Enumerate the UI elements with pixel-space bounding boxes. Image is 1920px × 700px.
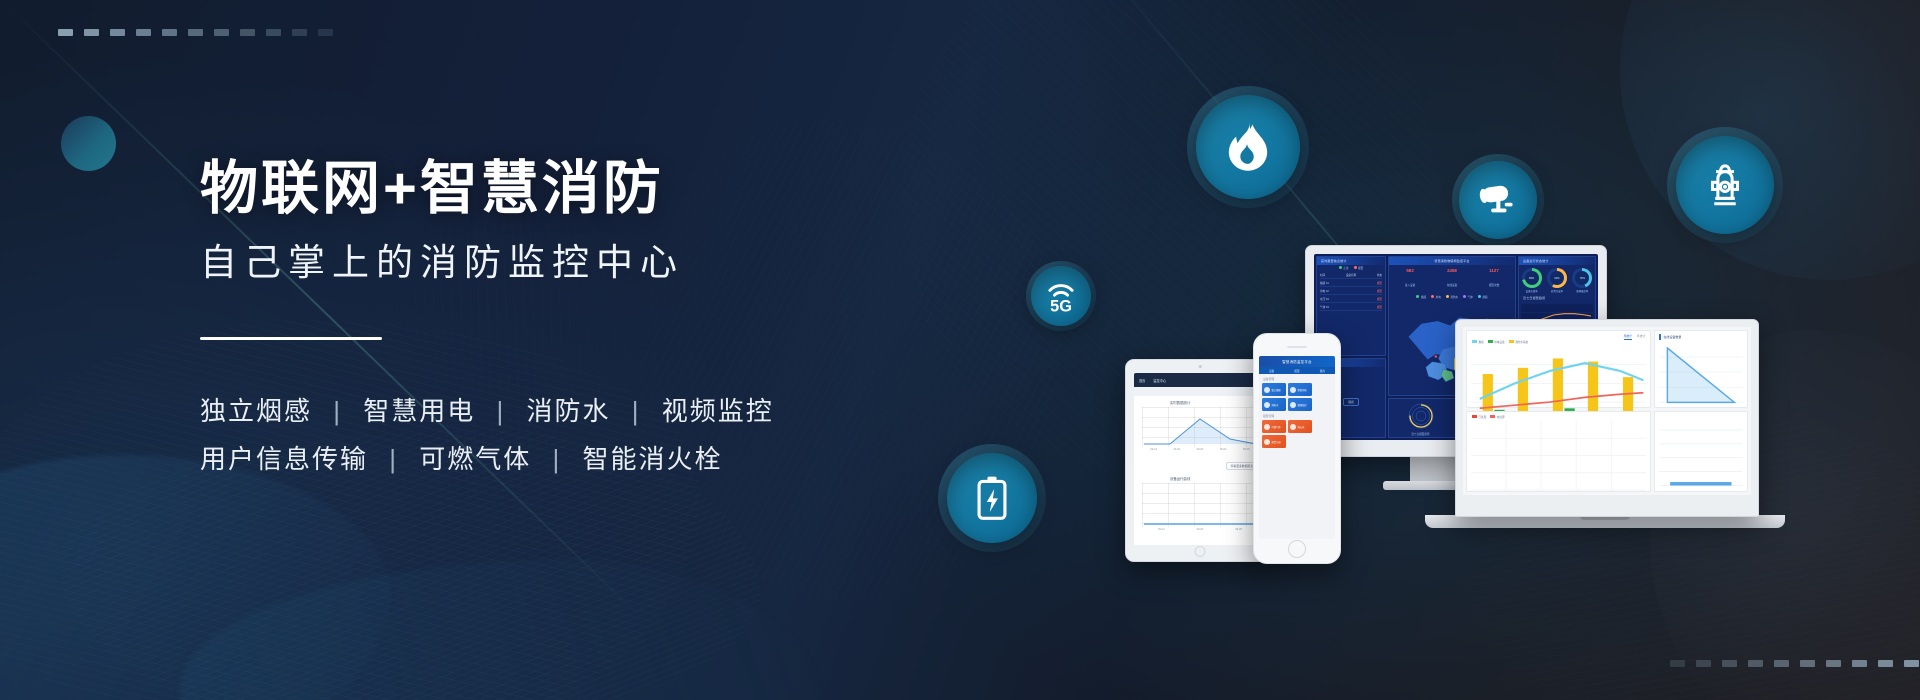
phone-app-header: 智慧消防监控平台 (1259, 356, 1335, 367)
tile-icon (1264, 402, 1270, 408)
gauge-ring: 92% (1547, 268, 1567, 288)
tile-icon (1290, 402, 1296, 408)
kpi-item: 2458 在线设备 (1447, 268, 1457, 291)
cell-device: 水压 03 (1320, 297, 1329, 301)
feature-item-hydrant: 智能消火栓 (583, 444, 723, 474)
legend-label: 视频 (1482, 296, 1487, 299)
cell-status: 报警 (1377, 281, 1382, 285)
phone-tab-mine[interactable]: 我的 (1320, 369, 1325, 373)
cell-device: 用电 02 (1320, 289, 1329, 293)
tile-icon (1264, 424, 1270, 430)
dash-mark (188, 29, 203, 36)
legend-label: 用电 (1436, 296, 1441, 299)
legend-label: 烟感 (1421, 296, 1426, 299)
fire-icon (1225, 121, 1271, 173)
radar-chart (1406, 401, 1436, 431)
cctv-camera-icon-badge[interactable] (1452, 154, 1544, 246)
filter-pill[interactable]: 烟感 (1343, 398, 1359, 406)
dash-mark (1904, 660, 1919, 667)
gauge-ring: 86% (1522, 268, 1542, 288)
list-item[interactable]: 视频监控 (1288, 398, 1312, 411)
tile-label: 可燃气体 (1272, 425, 1281, 429)
kpi-value: 2458 (1447, 268, 1457, 273)
gauge-item: 92% 处置完成率 (1546, 268, 1568, 293)
table-row: 用电 02 报警 (1320, 289, 1382, 295)
list-item[interactable]: 智慧用电 (1288, 383, 1312, 396)
table-row: 气体 04 报警 (1320, 305, 1382, 311)
axis-tick: 09-02 (1173, 448, 1180, 451)
cell-device: 烟感 01 (1320, 281, 1329, 285)
tablet-toolbar (1134, 387, 1266, 396)
tablet-screen: 首页 监控中心 实时数据统计 09-01 09-02 09-03 09-04 0… (1134, 373, 1266, 545)
dash-mark (266, 29, 281, 36)
gauge-value: 92% (1550, 271, 1564, 285)
flat-bar-chart (1659, 416, 1743, 489)
hero-banner: 物联网+智慧消防 自己掌上的消防监控中心 独立烟感 | 智慧用电 | 消防水 |… (0, 0, 1920, 700)
laptop-device: 月统计 年统计 烟感 用电设备 消防水系统 (1455, 319, 1759, 517)
tile-icon (1264, 439, 1270, 445)
dash-mark (84, 29, 99, 36)
phone-tab-alarm[interactable]: 报警 (1294, 369, 1299, 373)
kpi-value: 1127 (1489, 268, 1499, 273)
phone-group1-label: 设备管理 (1259, 374, 1335, 383)
list-item[interactable]: 报警记录 (1262, 435, 1286, 448)
feature-item-gas: 可燃气体 (419, 444, 531, 474)
table-row: 水压 03 报警 (1320, 297, 1382, 303)
gauge-value: 78% (1575, 271, 1589, 285)
gauge-label: 设备在线率 (1521, 289, 1543, 293)
phone-speaker (1287, 346, 1307, 348)
kpi-label: 在线设备 (1447, 284, 1457, 287)
gauge-item: 86% 设备在线率 (1521, 268, 1543, 293)
tile-icon (1290, 387, 1296, 393)
5g-signal-icon-badge[interactable]: 5G (1026, 261, 1096, 331)
gauge-label: 联网覆盖率 (1571, 289, 1593, 293)
cctv-camera-icon (1476, 180, 1520, 220)
5g-signal-icon: 5G (1042, 278, 1080, 314)
fire-icon-badge[interactable] (1187, 86, 1309, 208)
dash-mark (110, 29, 125, 36)
axis-tick: 09-04 (1220, 448, 1227, 451)
axis-tick: 09-03 (1197, 528, 1204, 531)
axis-tick: 09-05 (1243, 448, 1250, 451)
feature-item-water: 消防水 (527, 396, 611, 426)
feature-item-video: 视频监控 (662, 396, 774, 426)
dash-mark (1878, 660, 1893, 667)
legend-label: 未处理 (1497, 416, 1505, 419)
tile-label: 视频监控 (1298, 403, 1307, 407)
list-item[interactable]: 消火栓 (1288, 420, 1312, 433)
tile-label: 独立烟感 (1272, 388, 1281, 392)
gauge-value: 86% (1525, 271, 1539, 285)
axis-tick: 09-01 (1158, 528, 1165, 531)
tile-label: 消防水 (1272, 403, 1279, 407)
kpi-value: 583 (1405, 268, 1415, 273)
dash-mark (58, 29, 73, 36)
feature-separator: | (485, 387, 518, 435)
phone-tab-device[interactable]: 设备 (1269, 369, 1274, 373)
gauge-item: 78% 联网覆盖率 (1571, 268, 1593, 293)
dash-mark (162, 29, 177, 36)
divider (200, 337, 382, 340)
dash-mark (1696, 660, 1711, 667)
dash-mark (318, 29, 333, 36)
dash-mark (1774, 660, 1789, 667)
table-header-row: 时间 设备名称 状态 (1320, 273, 1382, 279)
phone-orange-tiles: 可燃气体 消火栓 报警记录 (1259, 420, 1335, 448)
feature-item-electricity: 智慧用电 (363, 396, 475, 426)
phone-screen: 智慧消防监控平台 设备 报警 我的 设备管理 独立烟感 智慧用电 (1259, 356, 1335, 539)
dash-mark (1852, 660, 1867, 667)
tablet-camera (1199, 365, 1202, 368)
panel-caption: 近七日报警趋势 (1411, 432, 1429, 436)
alarm-table: 时间 设备名称 状态 烟感 01 报警 用电 02 (1317, 271, 1385, 313)
chart-legend-2: 已处理 未处理 (1467, 412, 1650, 421)
list-item[interactable]: 独立烟感 (1262, 383, 1286, 396)
feature-separator: | (377, 435, 410, 483)
dash-mark (240, 29, 255, 36)
device-mockup-cluster: 实时报警信息统计 正常报警 时间 设备名称 状态 (1125, 285, 1785, 565)
tablet-header: 首页 监控中心 (1134, 373, 1266, 387)
laptop-card-line: 在线设备数量 (1654, 330, 1748, 408)
dash-mark (1826, 660, 1841, 667)
cell-status: 报警 (1377, 289, 1382, 293)
legend-label: 气体 (1468, 296, 1473, 299)
dash-mark (292, 29, 307, 36)
dash-mark (1800, 660, 1815, 667)
blob-top-right (1620, 0, 1920, 280)
panel-title: 实时报警信息统计 (1317, 257, 1385, 265)
page-title: 物联网+智慧消防 (200, 160, 774, 218)
axis-tick: 09-01 (1150, 448, 1157, 451)
cell-status: 报警 (1377, 305, 1382, 309)
feature-list: 独立烟感 | 智慧用电 | 消防水 | 视频监控 用户信息传输 | 可燃气体 |… (200, 387, 774, 483)
page-subtitle: 自己掌上的消防监控中心 (200, 244, 774, 281)
legend-label: 烟感 (1479, 341, 1484, 344)
kpi-label: 报警次数 (1489, 284, 1499, 287)
decorative-orb (61, 116, 116, 171)
subpanel-title: 近七日报警趋势 (1519, 294, 1595, 302)
tile-icon (1264, 387, 1270, 393)
dash-mark (1670, 660, 1685, 667)
battery-charge-icon (975, 474, 1009, 522)
feature-row-2: 用户信息传输 | 可燃气体 | 智能消火栓 (200, 435, 774, 483)
bottom-dash-decoration (1670, 660, 1920, 667)
fire-hydrant-icon-badge[interactable] (1667, 127, 1783, 243)
tablet-home-button[interactable] (1195, 546, 1206, 557)
card-title-label: 在线设备数量 (1663, 335, 1681, 339)
svg-text:5G: 5G (1050, 297, 1072, 314)
laptop-card-flat (1654, 411, 1748, 492)
tablet-chart2-title: 设备运行曲线 (1134, 472, 1266, 483)
feature-separator: | (620, 387, 653, 435)
laptop-card-compare: 已处理 未处理 (1466, 411, 1651, 492)
list-item[interactable]: 消防水 (1262, 398, 1286, 411)
blob-bottom-left-2 (180, 560, 820, 700)
phone-home-button[interactable] (1288, 540, 1306, 558)
hero-copy: 物联网+智慧消防 自己掌上的消防监控中心 独立烟感 | 智慧用电 | 消防水 |… (200, 160, 774, 483)
legend-label: 消防水系统 (1515, 341, 1528, 344)
gauge-label: 处置完成率 (1546, 289, 1568, 293)
tablet-axis: 09-01 09-02 09-03 09-04 09-05 (1134, 447, 1266, 451)
tile-label: 消火栓 (1298, 425, 1305, 429)
gauge-row: 86% 设备在线率 92% 处置完成率 (1519, 265, 1595, 294)
laptop-card-bar: 月统计 年统计 烟感 用电设备 消防水系统 (1466, 330, 1651, 408)
dash-mark (136, 29, 151, 36)
gauge-ring: 78% (1572, 268, 1592, 288)
panel-title: 智慧消防物联网监控平台 (1389, 257, 1515, 265)
legend-label: 已处理 (1479, 416, 1487, 419)
descending-line-chart (1659, 342, 1743, 408)
axis-tick: 09-05 (1235, 528, 1242, 531)
tile-icon (1290, 424, 1296, 430)
phone-tabs: 设备 报警 我的 (1259, 367, 1335, 374)
tablet-chart-2 (1142, 483, 1258, 527)
tablet-line-chart (1142, 407, 1258, 447)
kpi-item: 1127 报警次数 (1489, 268, 1499, 291)
fire-hydrant-icon (1703, 160, 1747, 210)
col-device: 设备名称 (1346, 273, 1356, 277)
panel-title: 设备运行状态统计 (1519, 257, 1595, 265)
feature-separator: | (321, 387, 354, 435)
feature-row-1: 独立烟感 | 智慧用电 | 消防水 | 视频监控 (200, 387, 774, 435)
card-title: 在线设备数量 (1655, 331, 1747, 342)
top-dash-decoration (58, 29, 333, 36)
tablet-tab-monitor[interactable]: 监控中心 (1153, 378, 1166, 383)
tile-label: 报警记录 (1272, 440, 1281, 444)
blob-bottom-left (0, 455, 390, 700)
laptop-screen: 月统计 年统计 烟感 用电设备 消防水系统 (1463, 327, 1751, 495)
kpi-label: 接入设备 (1405, 284, 1415, 287)
dash-mark (1748, 660, 1763, 667)
cell-status: 报警 (1377, 297, 1382, 301)
tablet-axis-2: 09-01 09-03 09-05 (1134, 527, 1266, 531)
phone-blue-tiles: 独立烟感 智慧用电 消防水 视频监控 (1259, 383, 1335, 411)
cell-device: 气体 04 (1320, 305, 1329, 309)
feature-item-smoke: 独立烟感 (200, 396, 312, 426)
legend-label: 消防水 (1450, 296, 1458, 299)
dash-mark (1722, 660, 1737, 667)
list-item[interactable]: 可燃气体 (1262, 420, 1286, 433)
empty-grid-chart (1471, 421, 1646, 493)
kpi-item: 583 接入设备 (1405, 268, 1415, 291)
phone-group2-label: 报警管理 (1259, 411, 1335, 420)
dash-mark (214, 29, 229, 36)
battery-charge-icon-badge[interactable] (938, 444, 1046, 552)
tile-label: 智慧用电 (1298, 388, 1307, 392)
table-row: 烟感 01 报警 (1320, 281, 1382, 287)
kpi-row: 583 接入设备 2458 在线设备 1127 报警次数 (1389, 265, 1515, 294)
feature-item-usertransmit: 用户信息传输 (200, 444, 368, 474)
feature-separator: | (541, 435, 574, 483)
col-time: 时间 (1320, 273, 1325, 277)
tablet-tab-home[interactable]: 首页 (1139, 378, 1145, 383)
tablet-chart-title: 实时数据统计 (1134, 396, 1266, 407)
legend-label: 用电设备 (1494, 341, 1504, 344)
phone-device: 智慧消防监控平台 设备 报警 我的 设备管理 独立烟感 智慧用电 (1253, 333, 1341, 564)
axis-tick: 09-03 (1197, 448, 1204, 451)
col-status: 状态 (1377, 273, 1382, 277)
